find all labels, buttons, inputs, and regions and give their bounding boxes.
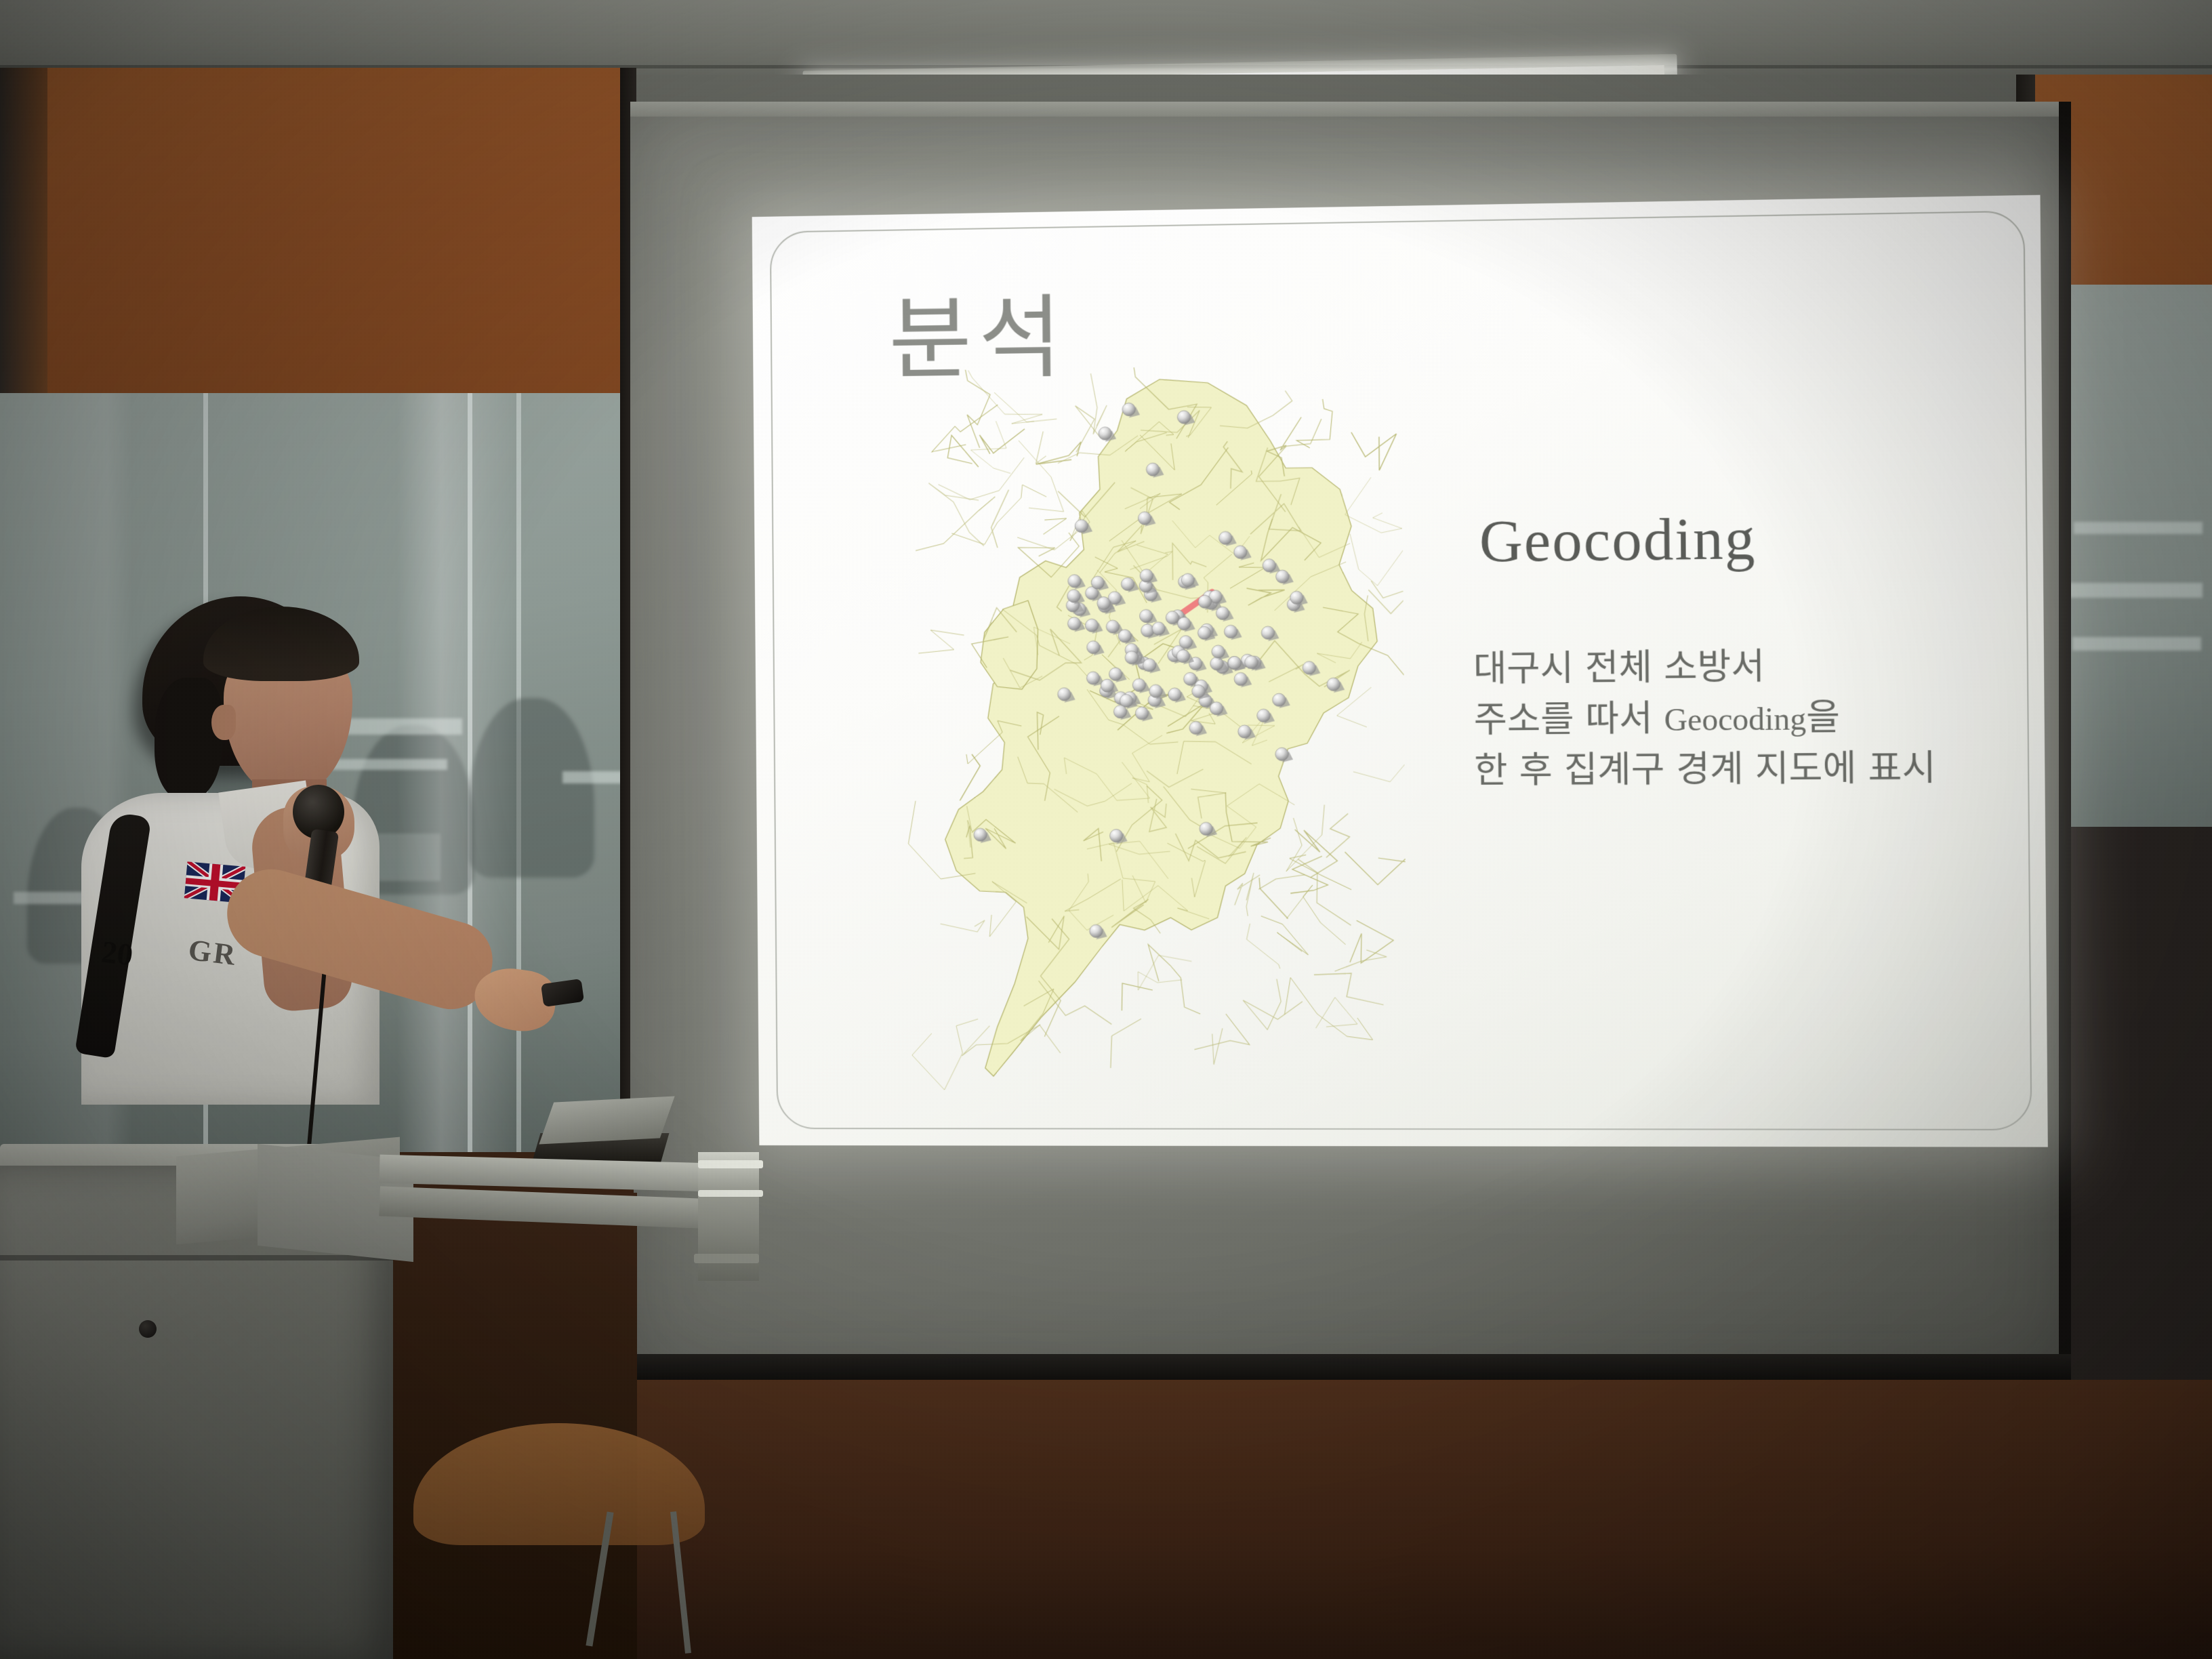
wood-panel-left [0, 68, 636, 400]
slide-body-line-3: 한 후 집계구 경계 지도에 표시 [1474, 743, 1936, 796]
lectern-seam [0, 1255, 393, 1261]
shirt-number: 20 [100, 933, 135, 972]
wall-bracket-bar [698, 1160, 763, 1168]
projected-slide: 분석 Geocoding 대구시 전체 소방서 [752, 195, 2048, 1147]
slide-body-line-2: 주소를 따서 Geocoding을 [1473, 692, 1935, 746]
presenter-sideburn [155, 678, 222, 800]
shirt-brand-text: GR [186, 933, 239, 972]
presenter-ear [211, 705, 236, 740]
slide-body-text: 대구시 전체 소방서 주소를 따서 Geocoding을 한 후 집계구 경계 … [1473, 640, 1936, 796]
projection-wall-top-trim [630, 102, 2067, 117]
wall-bracket-bar [698, 1190, 763, 1197]
lectern-knob[interactable] [139, 1320, 157, 1338]
slide-body-line-1: 대구시 전체 소방서 [1473, 640, 1935, 695]
daegu-census-tract-map [865, 364, 1408, 1092]
laptop-lid[interactable] [539, 1096, 674, 1144]
photo-scene: 분석 Geocoding 대구시 전체 소방서 [0, 0, 2212, 1659]
slide-heading-geocoding: Geocoding [1479, 504, 1757, 576]
lower-wood-wall [630, 1380, 2212, 1659]
wood-panel-left-shadow [0, 68, 47, 400]
wall-bracket-bar [694, 1254, 759, 1263]
screen-frame-right [2059, 102, 2071, 1389]
